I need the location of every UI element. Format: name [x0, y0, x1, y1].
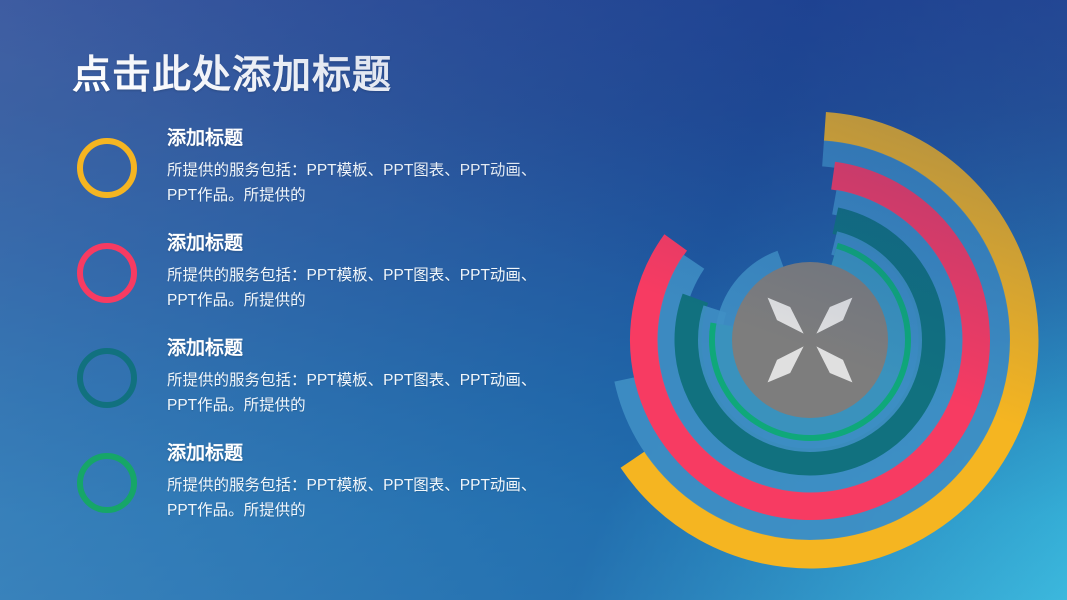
list-item-title: 添加标题: [167, 233, 567, 256]
list-item-body: 添加标题 所提供的服务包括：PPT模板、PPT图表、PPT动画、PPT作品。所提…: [167, 128, 567, 208]
ring-pink: [77, 243, 137, 303]
ring-teal: [77, 348, 137, 408]
list-item-desc: 所提供的服务包括：PPT模板、PPT图表、PPT动画、PPT作品。所提供的: [167, 263, 542, 313]
list-item-title: 添加标题: [167, 128, 567, 151]
page-title: 点击此处添加标题: [72, 44, 392, 100]
feature-list: 添加标题 所提供的服务包括：PPT模板、PPT图表、PPT动画、PPT作品。所提…: [72, 128, 562, 548]
list-item[interactable]: 添加标题 所提供的服务包括：PPT模板、PPT图表、PPT动画、PPT作品。所提…: [72, 338, 562, 443]
list-item-title: 添加标题: [167, 338, 567, 361]
list-item-desc: 所提供的服务包括：PPT模板、PPT图表、PPT动画、PPT作品。所提供的: [167, 473, 542, 523]
slide-canvas: 点击此处添加标题 添加标题 所提供的服务包括：PPT模板、PPT图表、PPT动画…: [0, 0, 1067, 600]
list-item[interactable]: 添加标题 所提供的服务包括：PPT模板、PPT图表、PPT动画、PPT作品。所提…: [72, 128, 562, 233]
list-item-body: 添加标题 所提供的服务包括：PPT模板、PPT图表、PPT动画、PPT作品。所提…: [167, 233, 567, 313]
list-item-desc: 所提供的服务包括：PPT模板、PPT图表、PPT动画、PPT作品。所提供的: [167, 368, 542, 418]
ring-yellow: [77, 138, 137, 198]
center-circle: [732, 262, 888, 418]
concentric-arc-diagram: [575, 105, 1045, 575]
list-item[interactable]: 添加标题 所提供的服务包括：PPT模板、PPT图表、PPT动画、PPT作品。所提…: [72, 233, 562, 338]
list-item-desc: 所提供的服务包括：PPT模板、PPT图表、PPT动画、PPT作品。所提供的: [167, 158, 542, 208]
list-item-title: 添加标题: [167, 443, 567, 466]
ring-green: [77, 453, 137, 513]
list-item-body: 添加标题 所提供的服务包括：PPT模板、PPT图表、PPT动画、PPT作品。所提…: [167, 443, 567, 523]
list-item-body: 添加标题 所提供的服务包括：PPT模板、PPT图表、PPT动画、PPT作品。所提…: [167, 338, 567, 418]
list-item[interactable]: 添加标题 所提供的服务包括：PPT模板、PPT图表、PPT动画、PPT作品。所提…: [72, 443, 562, 548]
